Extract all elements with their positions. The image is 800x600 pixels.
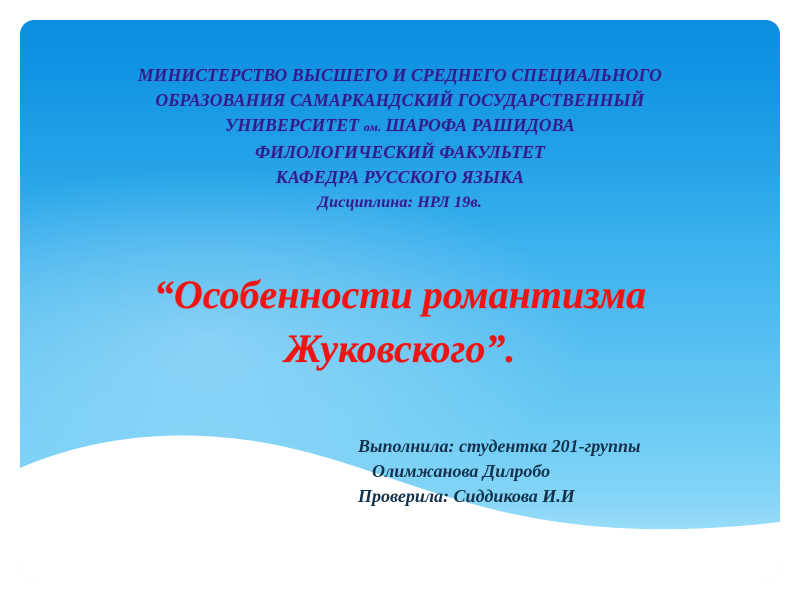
title-line-2: Жуковского”. bbox=[60, 322, 740, 376]
institution-line-1: МИНИСТЕРСТВО ВЫСШЕГО И СРЕДНЕГО СПЕЦИАЛЬ… bbox=[40, 63, 760, 88]
slide-frame-right bbox=[780, 0, 800, 600]
faculty-line: ФИЛОЛОГИЧЕСКИЙ ФАКУЛЬТЕТ bbox=[40, 140, 760, 165]
institution-line-2: ОБРАЗОВАНИЯ САМАРКАНДСКИЙ ГОСУДАРСТВЕННЫ… bbox=[40, 88, 760, 113]
author-line-reviewed-by: Проверила: Сиддикова И.И bbox=[358, 484, 778, 509]
department-line: КАФЕДРА РУССКОГО ЯЗЫКА bbox=[40, 165, 760, 190]
institution-line-3: УНИВЕРСИТЕТ ом. ШАРОФА РАШИДОВА bbox=[40, 113, 760, 140]
title-line-1: “Особенности романтизма bbox=[60, 268, 740, 322]
slide-frame-bottom bbox=[0, 580, 800, 600]
university-label: УНИВЕРСИТЕТ bbox=[225, 115, 359, 135]
page-title: “Особенности романтизма Жуковского”. bbox=[60, 268, 740, 376]
author-credits: Выполнила: студентка 201-группы Олимжано… bbox=[358, 434, 778, 509]
institution-header: МИНИСТЕРСТВО ВЫСШЕГО И СРЕДНЕГО СПЕЦИАЛЬ… bbox=[40, 63, 760, 215]
university-named-after-label: ом. bbox=[364, 120, 381, 134]
university-namesake: ШАРОФА РАШИДОВА bbox=[386, 115, 575, 135]
author-line-student-name: Олимжанова Дилробо bbox=[358, 459, 778, 484]
author-line-performed-by: Выполнила: студентка 201-группы bbox=[358, 434, 778, 459]
presentation-slide: МИНИСТЕРСТВО ВЫСШЕГО И СРЕДНЕГО СПЕЦИАЛЬ… bbox=[0, 0, 800, 600]
discipline-line: Дисциплина: НРЛ 19в. bbox=[40, 190, 760, 215]
slide-frame-left bbox=[0, 0, 20, 600]
slide-frame-top bbox=[0, 0, 800, 20]
